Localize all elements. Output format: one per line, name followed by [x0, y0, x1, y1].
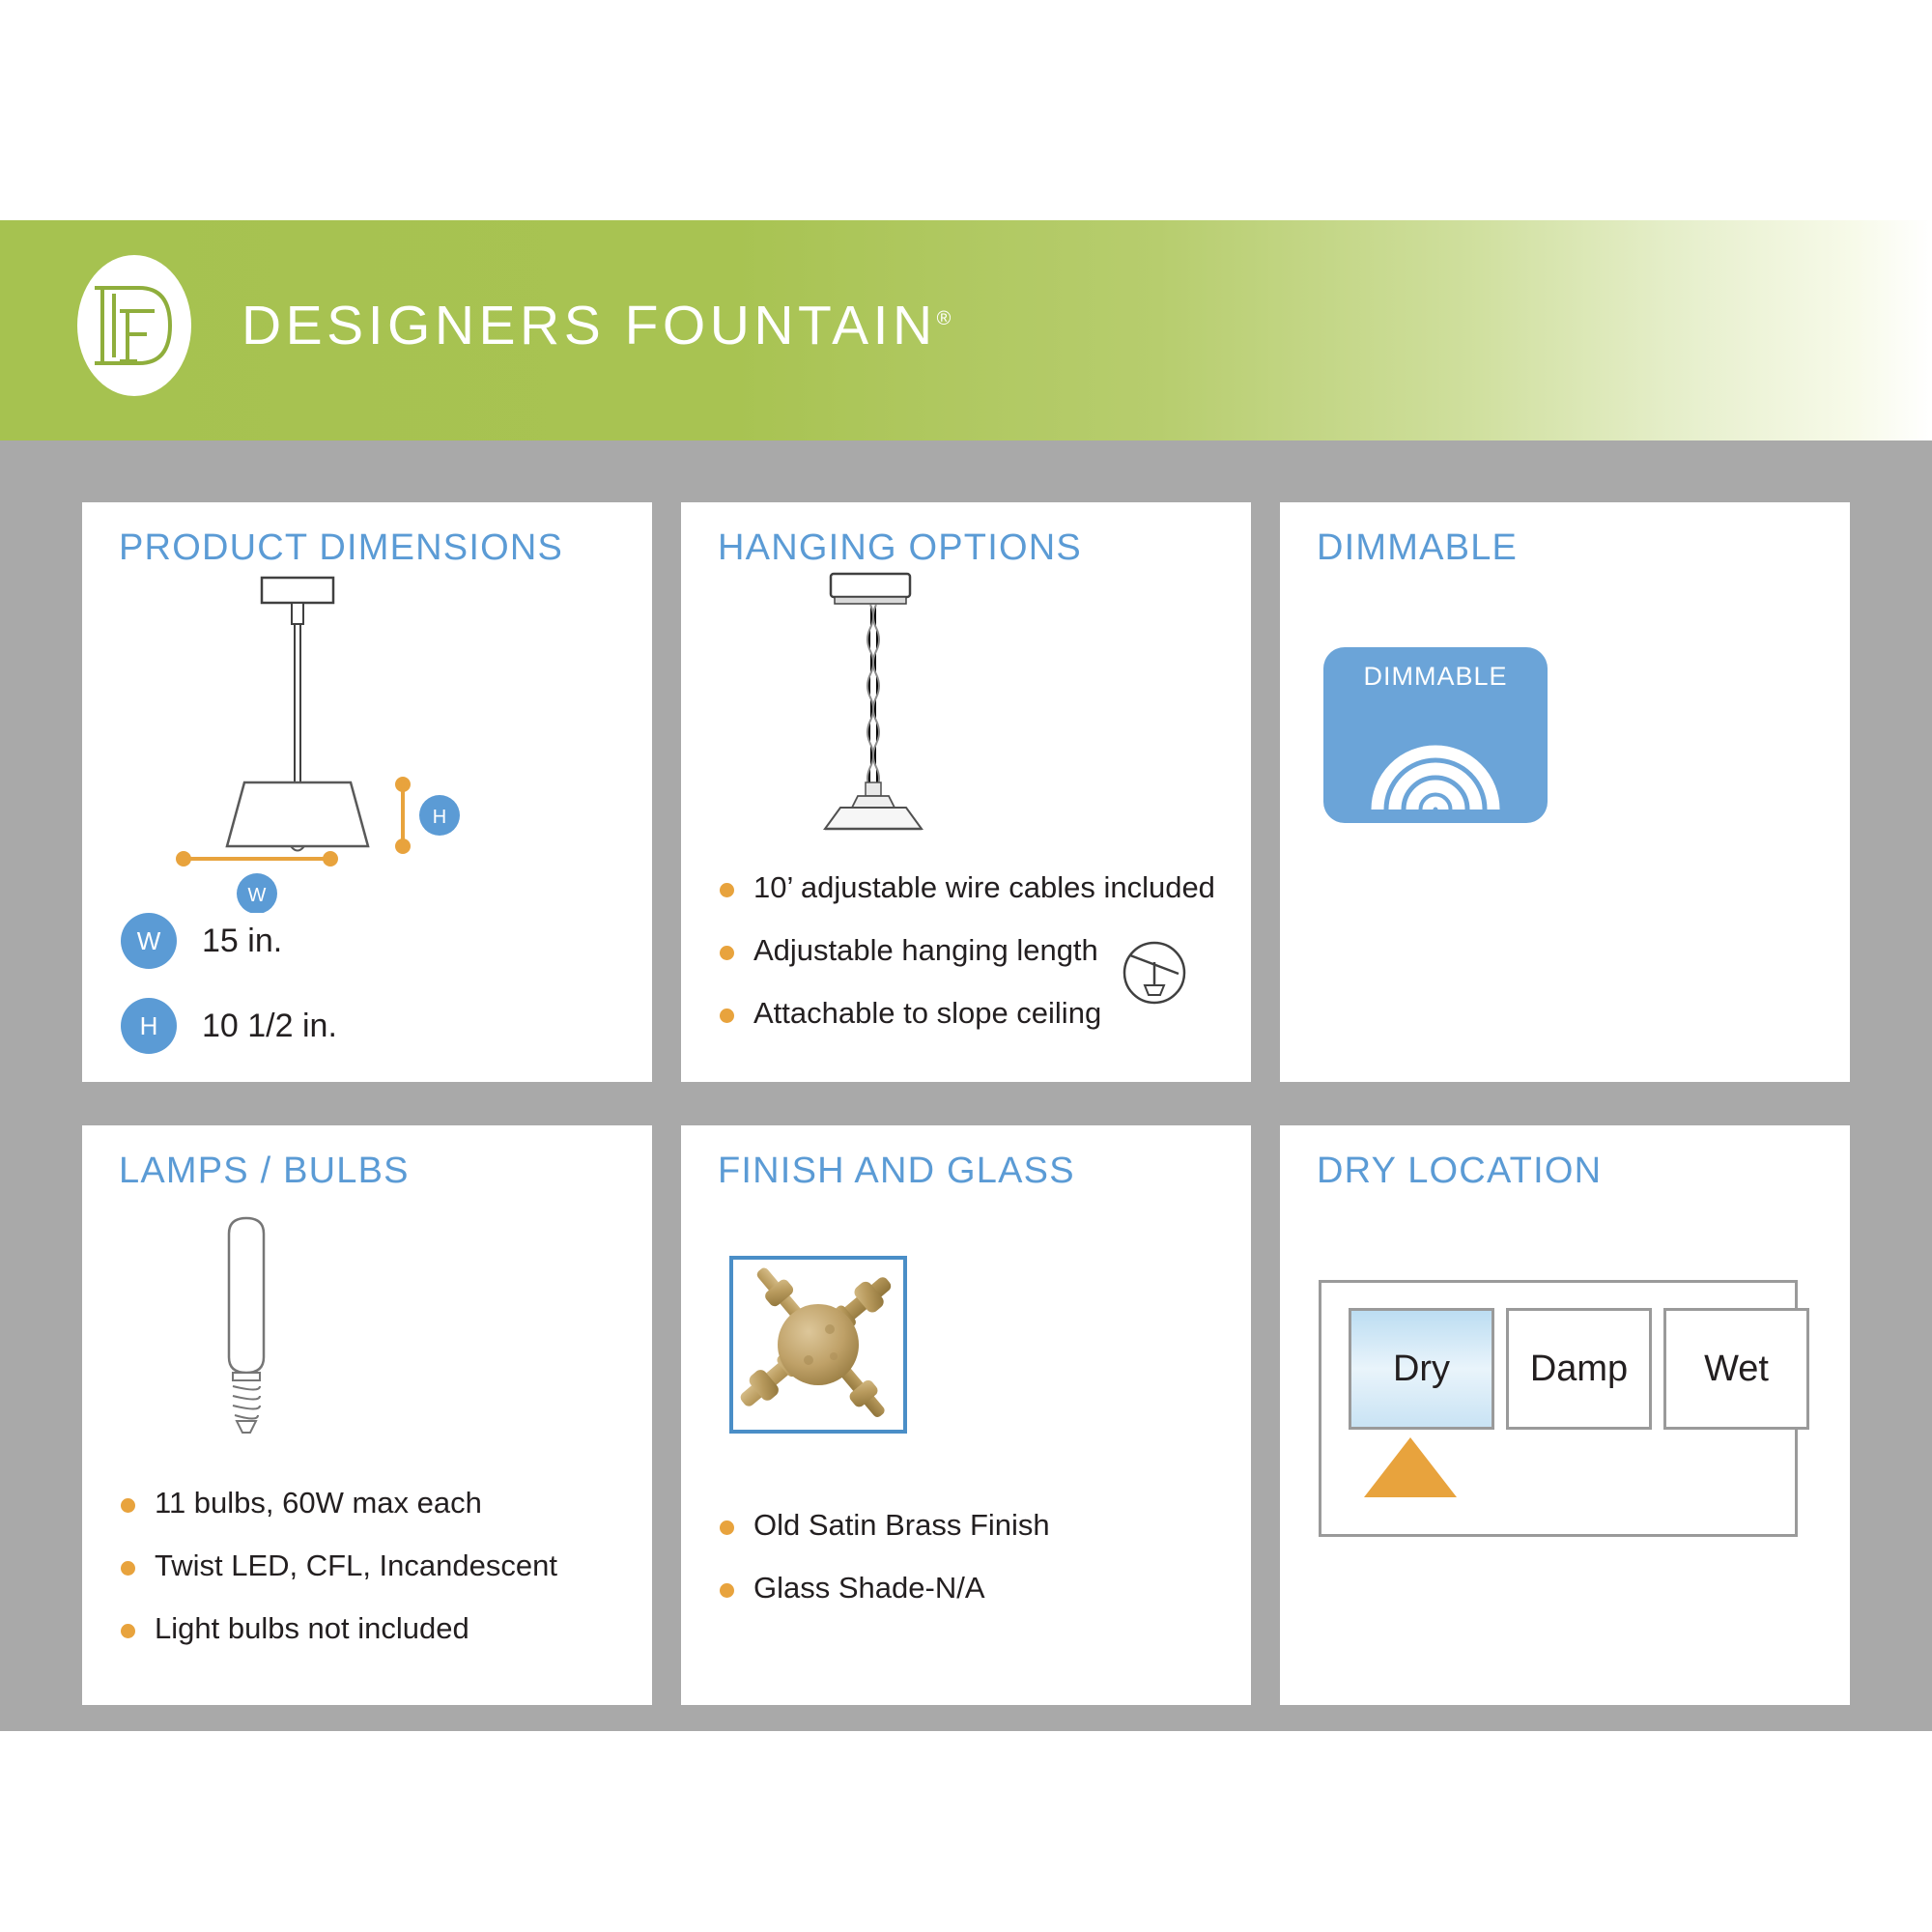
card-title-finish-and-glass: FINISH AND GLASS [718, 1151, 1075, 1192]
location-rating-frame: Dry Damp Wet [1319, 1280, 1798, 1537]
card-title-dimmable: DIMMABLE [1317, 527, 1518, 569]
bullet-dot-icon [121, 1498, 135, 1513]
diagram-height-label: H [433, 807, 446, 828]
spec-sheet-page: DESIGNERS FOUNTAIN® PRODUCT DIMENSIONS [0, 0, 1932, 1932]
bullet-dot-icon [121, 1624, 135, 1638]
card-lamps-bulbs: LAMPS / BULBS 11 bulbs, 60W max each [82, 1125, 652, 1705]
selected-location-marker-icon [1364, 1437, 1457, 1497]
bullet-dot-icon [720, 1583, 734, 1598]
list-item: Light bulbs not included [121, 1610, 633, 1648]
dimension-legend: W 15 in. H 10 1/2 in. [121, 913, 337, 1082]
card-dimmable: DIMMABLE DIMMABLE [1280, 502, 1850, 1082]
list-item: Old Satin Brass Finish [720, 1507, 1232, 1545]
bullet-text: Adjustable hanging length [753, 932, 1098, 970]
height-badge: H [121, 998, 177, 1054]
location-option-wet[interactable]: Wet [1663, 1308, 1809, 1430]
bullet-text: 11 bulbs, 60W max each [155, 1485, 482, 1522]
diagram-width-label: W [248, 885, 267, 906]
list-item: Glass Shade-N/A [720, 1570, 1232, 1607]
bullet-dot-icon [720, 1009, 734, 1023]
brand-text: DESIGNERS FOUNTAIN [241, 295, 937, 356]
bullet-text: Twist LED, CFL, Incandescent [155, 1548, 557, 1585]
bullet-dot-icon [720, 946, 734, 960]
df-monogram-icon [77, 255, 191, 396]
brand-logo: DESIGNERS FOUNTAIN® [77, 255, 951, 396]
bullet-text: Light bulbs not included [155, 1610, 469, 1648]
card-title-product-dimensions: PRODUCT DIMENSIONS [119, 527, 563, 569]
card-finish-and-glass: FINISH AND GLASS [681, 1125, 1251, 1705]
location-options: Dry Damp Wet [1349, 1308, 1809, 1430]
slope-ceiling-icon [1121, 939, 1188, 1007]
list-item: 10’ adjustable wire cables included [720, 869, 1232, 907]
dimension-row-height: H 10 1/2 in. [121, 998, 337, 1054]
lamps-bulbs-bullets: 11 bulbs, 60W max each Twist LED, CFL, I… [121, 1485, 633, 1672]
bullet-dot-icon [720, 883, 734, 897]
height-value: 10 1/2 in. [202, 1008, 337, 1045]
dimension-row-width: W 15 in. [121, 913, 337, 969]
pendant-dimension-diagram: H [140, 572, 546, 862]
brand-name: DESIGNERS FOUNTAIN® [241, 298, 951, 354]
bulb-icon [179, 1212, 333, 1473]
spec-card-grid: PRODUCT DIMENSIONS H [82, 502, 1850, 1705]
dimmable-badge-icon: DIMMABLE [1323, 647, 1548, 823]
brand-header: DESIGNERS FOUNTAIN® [0, 220, 1932, 440]
finish-and-glass-bullets: Old Satin Brass Finish Glass Shade-N/A [720, 1507, 1232, 1633]
width-dimension-marker: W [164, 845, 454, 913]
dimmer-waves-icon [1323, 707, 1548, 823]
registered-trademark-icon: ® [937, 308, 952, 329]
finish-swatch-image [729, 1256, 907, 1434]
card-hanging-options: HANGING OPTIONS 10’ adjustable wire cabl… [681, 502, 1251, 1082]
card-title-hanging-options: HANGING OPTIONS [718, 527, 1082, 569]
width-badge: W [121, 913, 177, 969]
card-title-dry-location: DRY LOCATION [1317, 1151, 1602, 1192]
bullet-text: Glass Shade-N/A [753, 1570, 985, 1607]
width-value: 15 in. [202, 923, 282, 960]
card-title-lamps-bulbs: LAMPS / BULBS [119, 1151, 410, 1192]
list-item: Twist LED, CFL, Incandescent [121, 1548, 633, 1585]
location-option-dry[interactable]: Dry [1349, 1308, 1494, 1430]
location-option-damp[interactable]: Damp [1506, 1308, 1652, 1430]
bullet-text: 10’ adjustable wire cables included [753, 869, 1215, 907]
card-dry-location: DRY LOCATION Dry Damp Wet [1280, 1125, 1850, 1705]
bullet-text: Attachable to slope ceiling [753, 995, 1101, 1033]
dimmable-badge-label: DIMMABLE [1323, 662, 1548, 692]
bullet-dot-icon [720, 1520, 734, 1535]
card-product-dimensions: PRODUCT DIMENSIONS H [82, 502, 652, 1082]
bullet-text: Old Satin Brass Finish [753, 1507, 1050, 1545]
cable-pendant-diagram [734, 568, 1024, 858]
bullet-dot-icon [121, 1561, 135, 1576]
list-item: 11 bulbs, 60W max each [121, 1485, 633, 1522]
